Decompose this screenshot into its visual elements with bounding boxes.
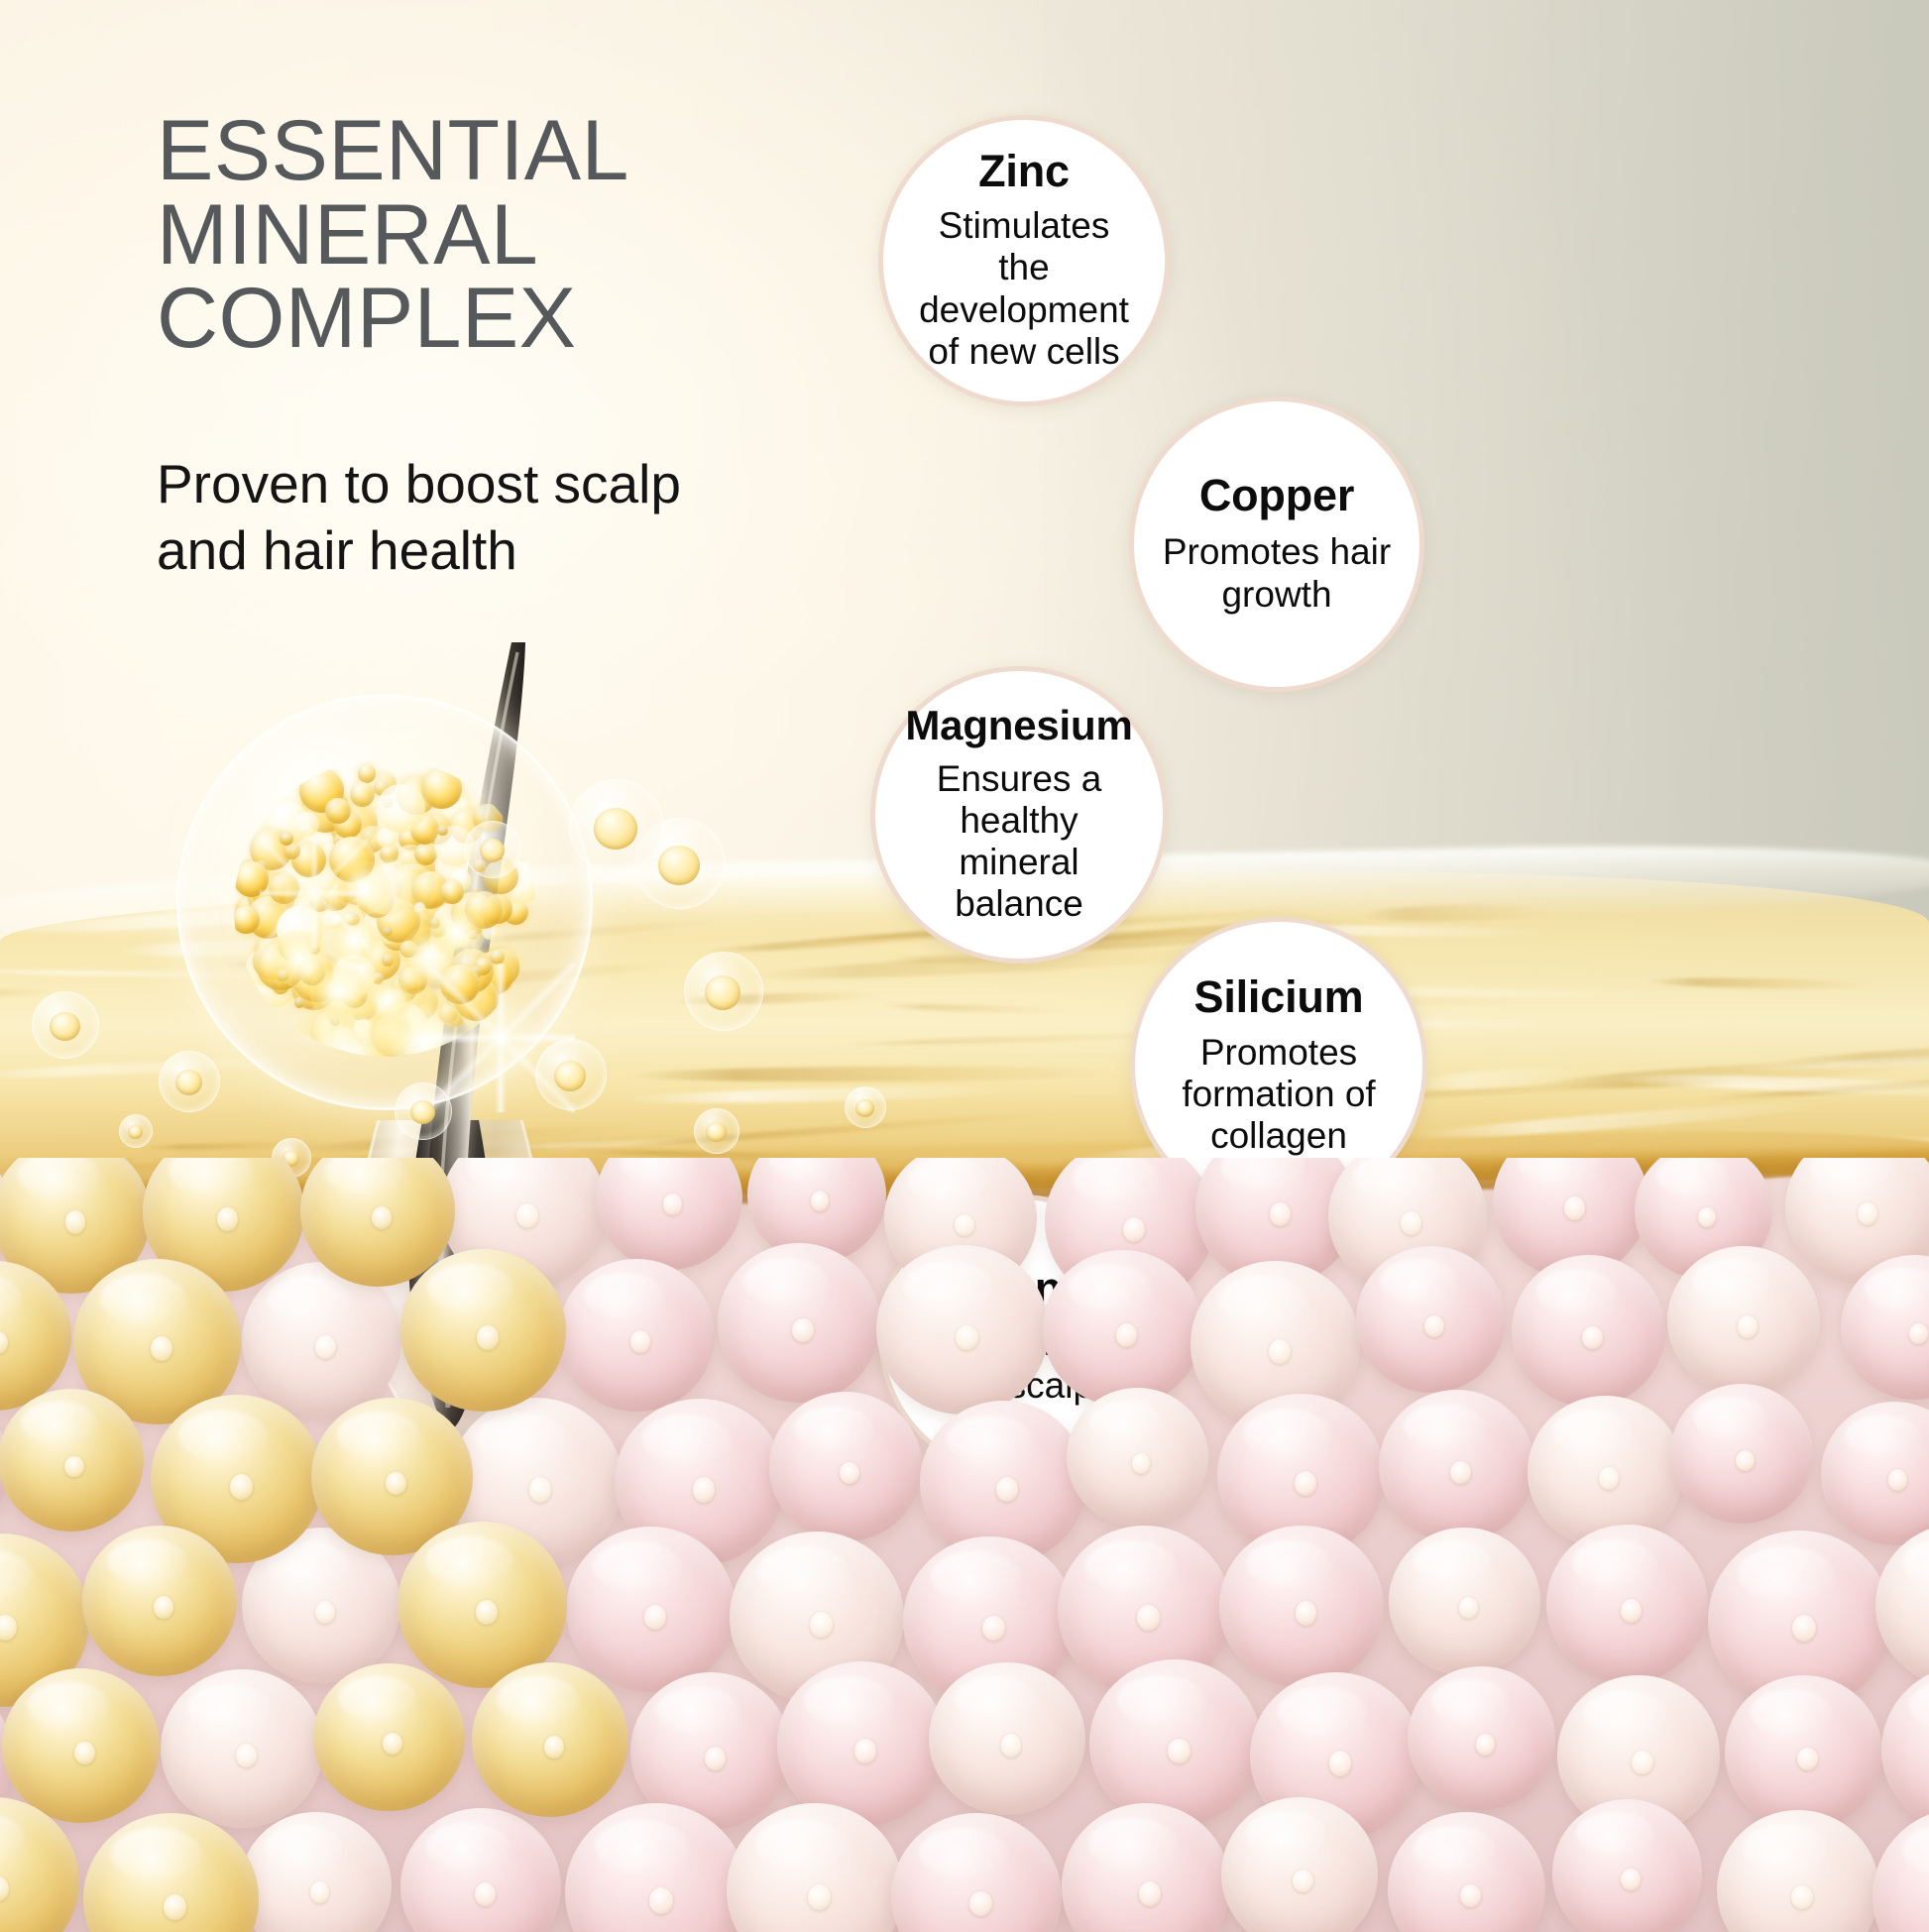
floating-bubble — [535, 1039, 607, 1110]
cell-sphere — [1356, 1246, 1506, 1393]
cell-sphere — [1670, 1384, 1813, 1524]
floating-bubble — [32, 991, 99, 1059]
floating-bubble — [159, 1051, 220, 1112]
mineral-description: Stimulates the development of new cells — [909, 205, 1139, 373]
oil-droplet — [437, 826, 447, 836]
cell-sphere — [313, 1663, 464, 1811]
cell-sphere — [718, 1243, 881, 1403]
mineral-circle-copper[interactable]: Copper Promotes hair growth — [1129, 397, 1424, 692]
cell-sphere — [1881, 1665, 1929, 1834]
page-title: ESSENTIAL MINERAL COMPLEX — [157, 109, 910, 361]
cell-sphere — [1717, 1810, 1879, 1932]
mineral-name: Silicium — [1194, 974, 1364, 1019]
oil-droplet — [358, 764, 376, 782]
mineral-name: Zinc — [978, 149, 1070, 193]
dermis-layer — [0, 1158, 1929, 1932]
oil-droplet — [440, 880, 464, 904]
infographic-stage: ESSENTIAL MINERAL COMPLEX Proven to boos… — [0, 0, 1929, 1932]
oil-droplet — [377, 784, 425, 833]
cell-sphere — [1408, 1666, 1554, 1810]
cell-sphere — [1875, 1524, 1929, 1687]
cell-sphere — [1512, 1255, 1666, 1407]
cell-sphere — [83, 1813, 259, 1932]
mineral-circle-magnesium[interactable]: Magnesium Ensures a healthy mineral bala… — [870, 666, 1168, 964]
cell-sphere — [400, 1249, 566, 1412]
cell-sphere — [558, 1259, 714, 1412]
floating-bubble — [464, 821, 521, 878]
light-flare-icon — [430, 904, 485, 959]
cell-sphere — [1219, 1526, 1384, 1686]
cell-sphere — [1389, 1528, 1539, 1675]
cell-sphere — [1821, 1402, 1929, 1545]
light-flare-icon — [260, 839, 369, 948]
cell-sphere — [1725, 1675, 1882, 1829]
oil-droplet — [294, 812, 319, 837]
oil-droplet — [350, 782, 376, 808]
cell-sphere — [777, 1661, 946, 1827]
cell-sphere — [929, 1662, 1085, 1816]
mineral-description: Ensures a healthy mineral balance — [901, 758, 1137, 926]
cell-sphere — [1089, 1659, 1260, 1827]
floating-bubble — [395, 1082, 452, 1140]
floating-bubble — [845, 1086, 886, 1128]
cell-sphere — [472, 1662, 629, 1817]
cell-sphere — [769, 1392, 921, 1540]
cell-sphere — [1379, 1390, 1535, 1542]
cell-sphere — [1043, 1250, 1202, 1407]
page-subtitle: Proven to boost scalp and hair health — [157, 451, 851, 584]
cell-sphere — [1062, 1803, 1231, 1932]
cell-sphere — [0, 1389, 144, 1533]
mineral-name: Copper — [1199, 473, 1354, 517]
floating-bubble — [119, 1114, 153, 1148]
cell-sphere — [1546, 1525, 1708, 1683]
mineral-circle-zinc[interactable]: Zinc Stimulates the development of new c… — [878, 115, 1170, 406]
mineral-description: Promotes hair growth — [1160, 531, 1394, 615]
oil-droplet — [414, 902, 425, 913]
mineral-name: Magnesium — [905, 705, 1132, 746]
cell-sphere — [1528, 1396, 1682, 1547]
cell-sphere — [161, 1669, 322, 1828]
oil-droplet — [382, 954, 394, 966]
cell-sphere — [596, 1158, 742, 1270]
cell-sphere — [2, 1668, 160, 1823]
cell-sphere — [566, 1527, 736, 1692]
cell-sphere — [891, 1813, 1062, 1932]
cell-sphere — [240, 1812, 392, 1932]
floating-bubble — [684, 952, 763, 1031]
cell-sphere — [1872, 1808, 1929, 1932]
floating-bubble — [569, 779, 664, 874]
cell-sphere — [876, 1245, 1049, 1415]
mineral-description: Promotes formation of collagen — [1161, 1032, 1397, 1158]
cell-sphere — [82, 1526, 236, 1676]
cell-sphere — [1067, 1388, 1207, 1527]
cell-sphere — [1388, 1812, 1545, 1932]
floating-bubble — [694, 1108, 739, 1154]
oil-droplet — [383, 927, 393, 937]
oil-droplet — [294, 997, 305, 1008]
cell-sphere — [400, 1808, 561, 1932]
cell-sphere — [1667, 1246, 1819, 1395]
